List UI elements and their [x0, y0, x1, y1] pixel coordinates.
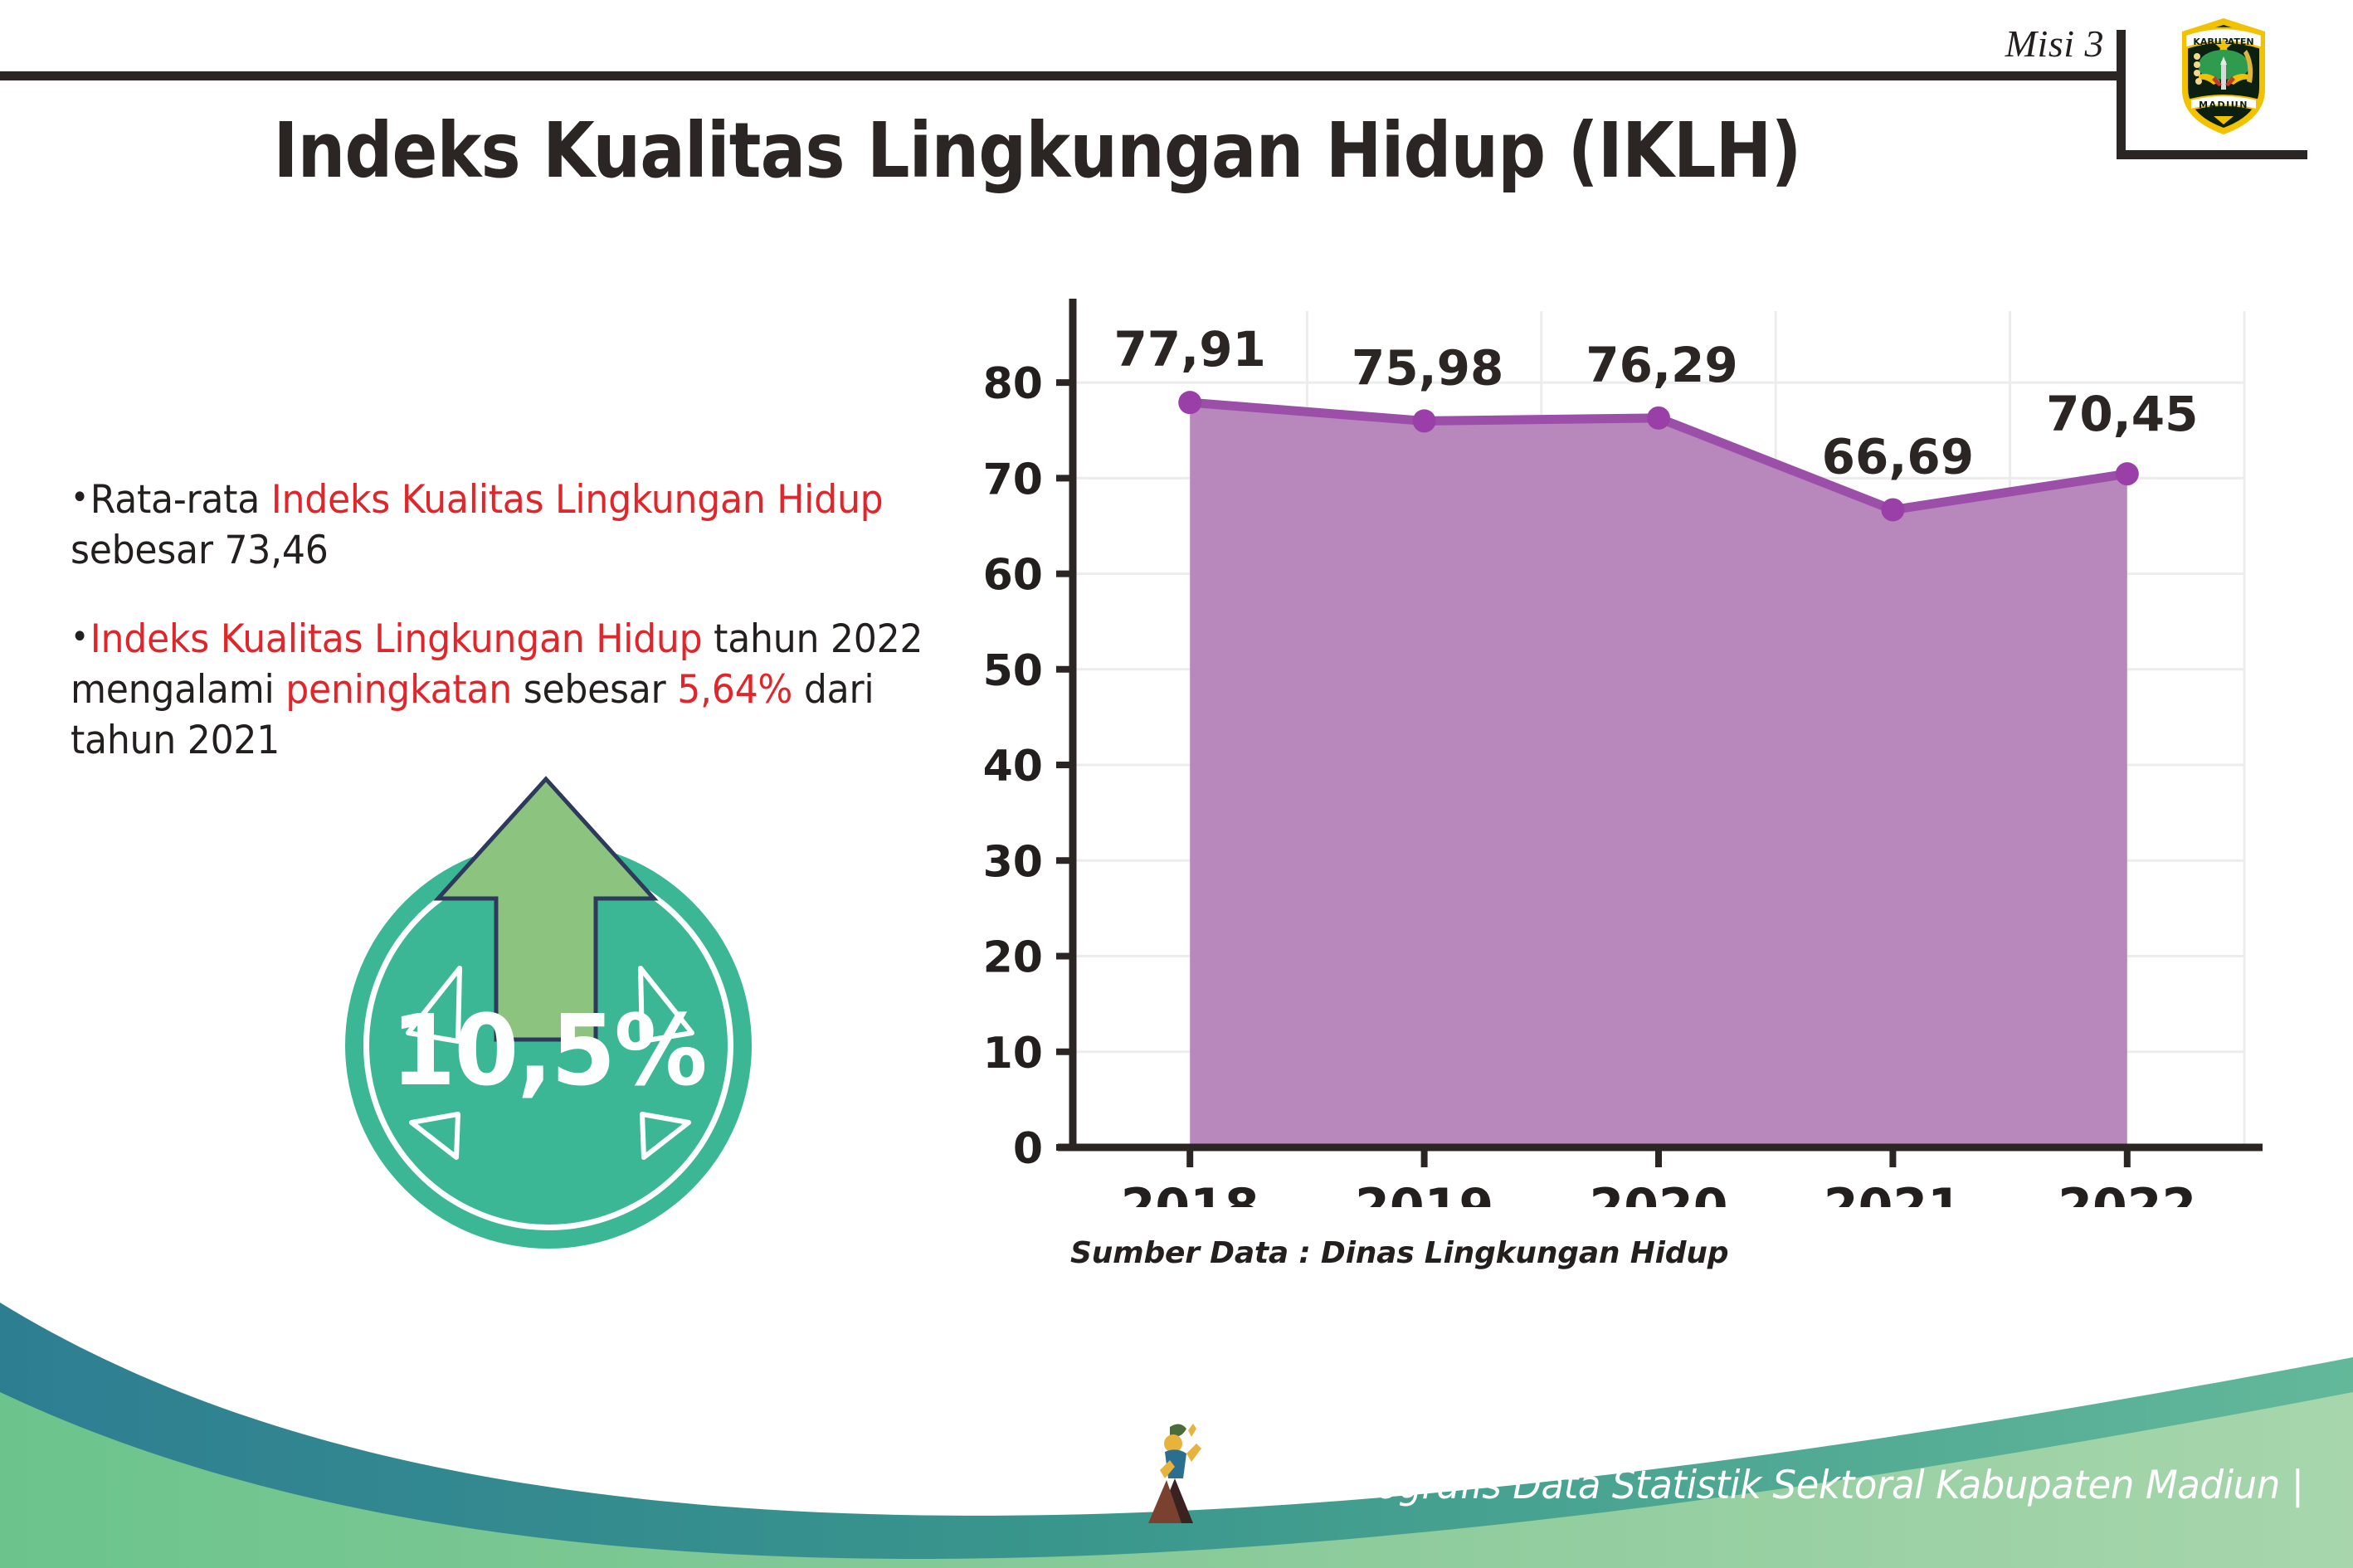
- data-value-label: 75,98: [1352, 339, 1503, 396]
- y-tick-label: 30: [983, 837, 1043, 887]
- infographic-slide: Misi 3 KABUPATEN MADIUN Indeks Kualitas …: [0, 0, 2353, 1568]
- data-point-marker: [1881, 498, 1904, 521]
- badge-percentage-value: 10,5%: [355, 993, 742, 1108]
- chart-source-note: Sumber Data : Dinas Lingkungan Hidup: [1070, 1236, 1728, 1270]
- y-tick-label: 40: [983, 742, 1043, 791]
- bullet-item-increase: •Indeks Kualitas Lingkungan Hidup tahun …: [71, 614, 944, 766]
- data-value-label: 76,29: [1586, 337, 1737, 393]
- chart-x-tick-labels: 20182019202020212022: [1121, 1147, 2197, 1207]
- y-tick-label: 70: [983, 455, 1043, 504]
- crest-bottom-text: MADIUN: [2199, 100, 2248, 110]
- badge-corner-ticks-icon: [332, 767, 755, 1199]
- data-point-marker: [1413, 409, 1436, 432]
- chart-area-series: [1190, 402, 2127, 1147]
- area-fill: [1190, 402, 2127, 1147]
- x-tick-label: 2020: [1590, 1178, 1728, 1207]
- y-tick-label: 80: [983, 359, 1043, 409]
- iklh-area-chart: 01020304050607080 20182019202020212022 7…: [975, 295, 2269, 1207]
- bullet-list: •Rata-rata Indeks Kualitas Lingkungan Hi…: [71, 475, 1000, 804]
- logo-frame-vertical-bar: [2117, 30, 2126, 159]
- chart-y-tick-labels: 01020304050607080: [983, 359, 1073, 1174]
- y-tick-label: 10: [983, 1029, 1043, 1079]
- bullet-2-highlight-3: 5,64%: [677, 667, 792, 713]
- bullet-2-highlight-2: peningkatan: [285, 667, 512, 713]
- data-point-marker: [2116, 462, 2139, 485]
- kabupaten-madiun-crest-icon: KABUPATEN MADIUN: [2174, 13, 2273, 138]
- mission-label: Misi 3: [2005, 22, 2104, 66]
- bullet-1-highlight: Indeks Kualitas Lingkungan Hidup: [271, 477, 884, 523]
- bullet-2-seg4: sebesar: [512, 667, 677, 713]
- bullet-1-seg1: Rata-rata: [90, 477, 271, 523]
- x-tick-label: 2018: [1121, 1178, 1259, 1207]
- data-point-marker: [1647, 407, 1670, 430]
- footer-caption: Media Infografis Data Statistik Sektoral…: [1207, 1463, 2303, 1508]
- x-tick-label: 2022: [2058, 1178, 2196, 1207]
- x-tick-label: 2019: [1355, 1178, 1493, 1207]
- logo-frame-horizontal-bar: [2117, 150, 2307, 159]
- increase-badge: 10,5%: [332, 767, 755, 1199]
- x-tick-label: 2021: [1824, 1178, 1962, 1207]
- bullet-item-average: •Rata-rata Indeks Kualitas Lingkungan Hi…: [71, 475, 944, 576]
- data-point-marker: [1178, 391, 1201, 414]
- bullet-dot-icon: •: [71, 618, 89, 656]
- chart-canvas: 01020304050607080 20182019202020212022 7…: [975, 295, 2269, 1207]
- statistics-mascot-icon: [1145, 1419, 1210, 1525]
- bullet-dot-icon: •: [71, 479, 89, 517]
- y-tick-label: 60: [983, 551, 1043, 601]
- data-value-label: 77,91: [1113, 321, 1265, 377]
- page-title: Indeks Kualitas Lingkungan Hidup (IKLH): [124, 106, 1950, 195]
- header-divider-rule: [0, 71, 2117, 80]
- data-value-label: 70,45: [2046, 386, 2198, 442]
- y-tick-label: 0: [1013, 1124, 1043, 1174]
- y-tick-label: 20: [983, 933, 1043, 983]
- bullet-2-highlight-1: Indeks Kualitas Lingkungan Hidup: [90, 616, 703, 662]
- bullet-1-seg3: sebesar 73,46: [71, 528, 329, 573]
- y-tick-label: 50: [983, 646, 1043, 696]
- data-value-label: 66,69: [1822, 428, 1974, 485]
